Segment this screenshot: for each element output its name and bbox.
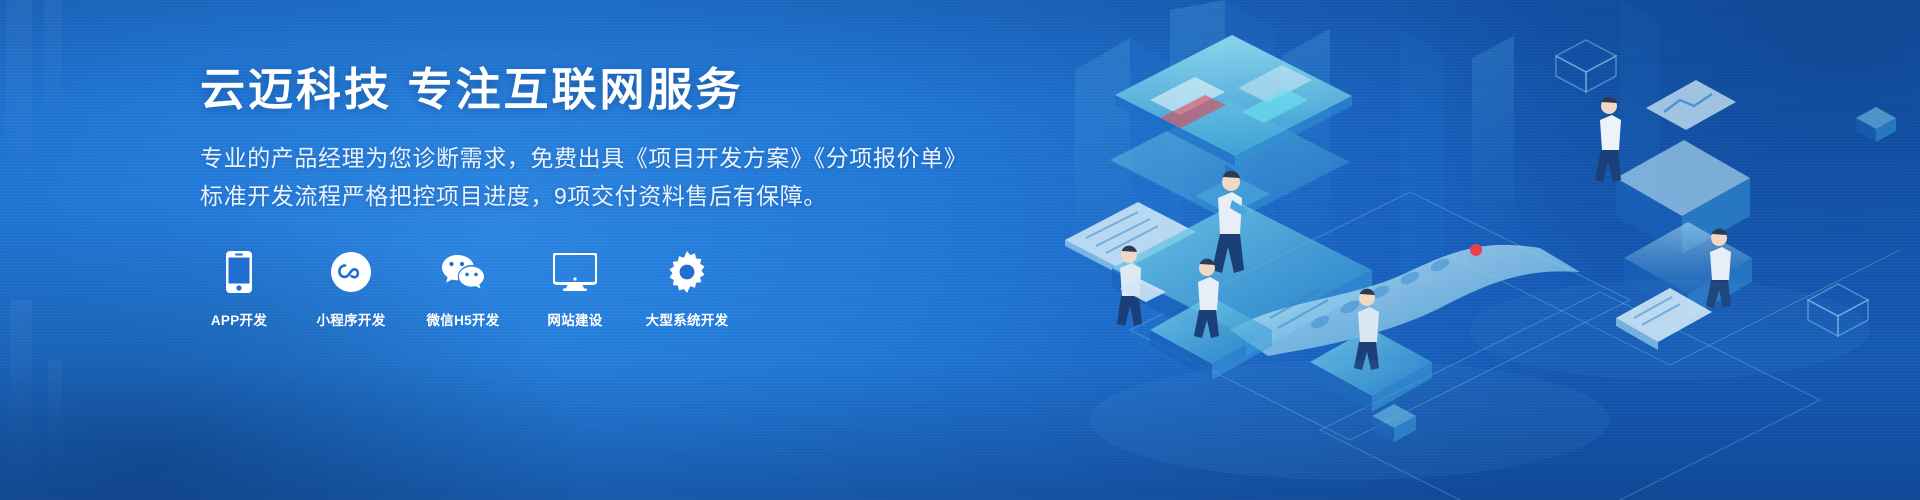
service-label: 网站建设 [547,309,602,329]
monitor-icon [553,249,597,295]
service-label: 小程序开发 [317,309,386,329]
banner-headline: 云迈科技 专注互联网服务 [200,62,920,118]
isometric-illustration [1020,0,1920,500]
gear-icon [666,249,708,295]
service-item-miniprogram[interactable]: 小程序开发 [312,249,390,329]
wechat-icon [440,249,486,295]
banner-content: 云迈科技 专注互联网服务 专业的产品经理为您诊断需求，免费出具《项目开发方案》《… [200,62,920,329]
service-item-system[interactable]: 大型系统开发 [648,249,726,329]
service-item-app[interactable]: APP开发 [200,249,278,329]
service-item-website[interactable]: 网站建设 [536,249,614,329]
mini-program-icon [331,249,371,295]
service-label: 微信H5开发 [426,309,499,329]
banner-subtitle: 专业的产品经理为您诊断需求，免费出具《项目开发方案》《分项报价单》 标准开发流程… [200,140,920,215]
banner-subtitle-line-2: 标准开发流程严格把控项目进度，9项交付资料售后有保障。 [200,178,920,215]
banner-subtitle-line-1: 专业的产品经理为您诊断需求，免费出具《项目开发方案》《分项报价单》 [200,140,920,177]
service-item-wechat[interactable]: 微信H5开发 [424,249,502,329]
person-right-top [1595,97,1621,182]
service-list: APP开发 小程序开发 [200,249,920,329]
mobile-phone-icon [226,249,252,295]
promo-banner: 云迈科技 专注互联网服务 专业的产品经理为您诊断需求，免费出具《项目开发方案》《… [0,0,1920,500]
service-label: APP开发 [211,309,267,329]
service-label: 大型系统开发 [646,309,729,329]
